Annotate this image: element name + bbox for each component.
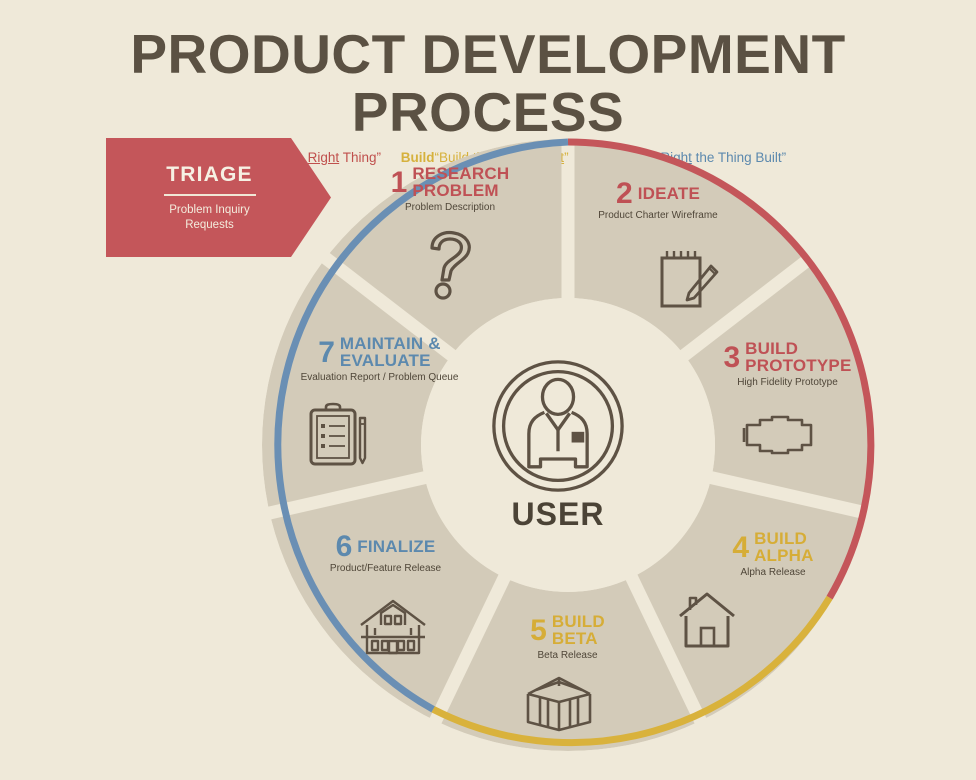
triage-subtitle: Problem Inquiry Requests: [169, 203, 250, 232]
house-frame-icon: [520, 672, 598, 739]
segment-number-4: 4: [732, 534, 749, 561]
segment-head-2: 2 IDEATE: [558, 180, 758, 207]
user-in-suit-icon: [488, 358, 628, 494]
segment-head-3: 3 BUILD PROTOTYPE: [695, 340, 880, 374]
triage-title: TRIAGE: [166, 163, 253, 187]
segment-label-2[interactable]: 2 IDEATE Product Charter Wireframe: [558, 180, 758, 221]
segment-number-5: 5: [530, 617, 547, 644]
notepad-pencil-icon: [656, 248, 720, 315]
segment-name-7: MAINTAIN & EVALUATE: [340, 335, 441, 369]
segment-name-4-line2: ALPHA: [754, 546, 814, 565]
segment-label-5[interactable]: 5 BUILD BETA Beta Release: [485, 613, 650, 661]
triage-subtitle-line2: Requests: [185, 219, 234, 231]
segment-desc-4: Alpha Release: [688, 567, 858, 578]
segment-name-5: BUILD BETA: [552, 613, 605, 647]
segment-head-1: 1 RESEARCH PROBLEM: [355, 165, 545, 199]
finished-house-icon: [355, 595, 431, 662]
segment-name-2: IDEATE: [638, 185, 700, 202]
segment-name-1-line2: PROBLEM: [412, 181, 498, 200]
segment-head-6: 6 FINALIZE: [298, 533, 473, 560]
segment-number-3: 3: [723, 344, 740, 371]
segment-name-5-line2: BETA: [552, 629, 598, 648]
segment-label-4[interactable]: 4 BUILD ALPHA Alpha Release: [688, 530, 858, 578]
clipboard-checklist-icon: [305, 402, 377, 473]
question-mark-icon: [418, 228, 480, 305]
segment-label-6[interactable]: 6 FINALIZE Product/Feature Release: [298, 533, 473, 574]
segment-number-6: 6: [336, 533, 353, 560]
segment-name-3: BUILD PROTOTYPE: [745, 340, 851, 374]
segment-desc-6: Product/Feature Release: [298, 563, 473, 574]
triage-divider: [164, 194, 256, 196]
simple-house-icon: [676, 590, 738, 655]
segment-number-2: 2: [616, 180, 633, 207]
segment-label-7[interactable]: 7 MAINTAIN & EVALUATE Evaluation Report …: [272, 335, 487, 383]
segment-label-1[interactable]: 1 RESEARCH PROBLEM Problem Description: [355, 165, 545, 213]
segment-name-6: FINALIZE: [357, 538, 435, 555]
segment-number-7: 7: [318, 339, 335, 366]
segment-desc-3: High Fidelity Prototype: [695, 377, 880, 388]
segment-desc-7: Evaluation Report / Problem Queue: [272, 372, 487, 383]
segment-name-3-line2: PROTOTYPE: [745, 356, 851, 375]
triage-callout[interactable]: TRIAGE Problem Inquiry Requests: [106, 138, 331, 257]
segment-head-4: 4 BUILD ALPHA: [688, 530, 858, 564]
segment-desc-5: Beta Release: [485, 650, 650, 661]
page-title: PRODUCT DEVELOPMENT PROCESS: [0, 26, 976, 142]
center-user: USER: [468, 358, 648, 533]
center-label: USER: [512, 496, 605, 533]
segment-number-1: 1: [391, 169, 408, 196]
segment-head-5: 5 BUILD BETA: [485, 613, 650, 647]
triage-subtitle-line1: Problem Inquiry: [169, 204, 250, 216]
segment-name-7-line2: EVALUATE: [340, 351, 431, 370]
segment-name-1: RESEARCH PROBLEM: [412, 165, 509, 199]
floorplan-blueprint-icon: [742, 412, 816, 463]
segment-head-7: 7 MAINTAIN & EVALUATE: [272, 335, 487, 369]
segment-name-4: BUILD ALPHA: [754, 530, 814, 564]
segment-label-3[interactable]: 3 BUILD PROTOTYPE High Fidelity Prototyp…: [695, 340, 880, 388]
segment-desc-2: Product Charter Wireframe: [558, 210, 758, 221]
infographic-page: PRODUCT DEVELOPMENT PROCESS Discover“Bui…: [0, 0, 976, 780]
triage-content: TRIAGE Problem Inquiry Requests: [106, 138, 331, 257]
segment-desc-1: Problem Description: [355, 202, 545, 213]
